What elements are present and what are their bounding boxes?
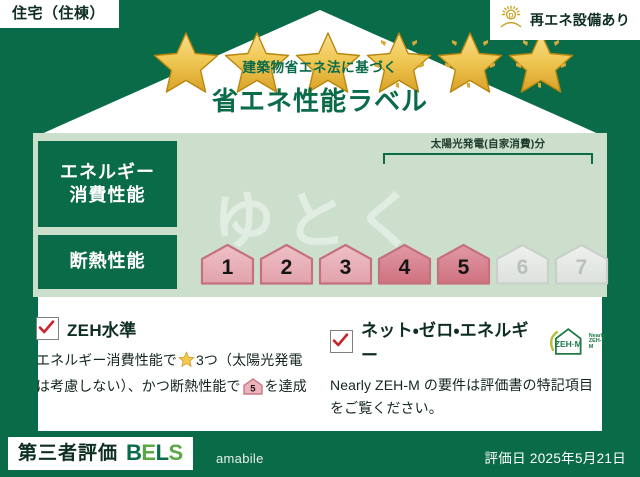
title-block: 建築物省エネ法に基づく 省エネ性能ラベル <box>0 56 640 118</box>
renewable-energy-badge: D 再エネ設備あり <box>490 0 640 40</box>
insulation-badge: 3 <box>318 243 373 285</box>
zeh-body-part1: エネルギー消費性能で <box>36 352 177 368</box>
insulation-badge-number: 7 <box>576 257 588 285</box>
insulation-badge: 6 <box>495 243 550 285</box>
building-type-tag: 住宅（住棟） <box>0 0 119 28</box>
insulation-badge: 2 <box>259 243 314 285</box>
bels-certification: 第三者評価 BELS <box>8 437 193 470</box>
insulation-badge-number: 4 <box>399 257 411 285</box>
energy-performance-label: 住宅（住棟） D 再エネ設備あり <box>0 0 640 477</box>
svg-text:D: D <box>509 12 514 19</box>
insulation-label-text: 断熱性能 <box>70 250 146 273</box>
bels-letter-b: B <box>126 440 141 465</box>
criteria-section: ZEH水準 エネルギー消費性能で3つ（太陽光発電は考慮しない）、かつ断熱性能で5… <box>36 316 606 419</box>
net-zero-energy-block: ネット・ゼロ・エネルギー ZEH·M Nearly ZEH-M Nearly Z… <box>330 316 606 419</box>
insulation-badge-inline: 5 <box>243 378 263 402</box>
insulation-badge-number: 5 <box>458 257 470 285</box>
zeh-standard-title: ZEH水準 <box>67 316 137 341</box>
net-zero-body: Nearly ZEH-M の要件は評価書の特記項目をご覧ください。 <box>330 374 606 419</box>
zeh-standard-header: ZEH水準 <box>36 316 312 341</box>
insulation-badge-number: 2 <box>281 257 293 285</box>
sun-icon: D <box>498 5 524 34</box>
zeh-standard-block: ZEH水準 エネルギー消費性能で3つ（太陽光発電は考慮しない）、かつ断熱性能で5… <box>36 316 312 419</box>
insulation-badge: 4 <box>377 243 432 285</box>
insulation-badge-number: 3 <box>340 257 352 285</box>
insulation-performance-label: 断熱性能 <box>38 235 177 289</box>
renewable-energy-label: 再エネ設備あり <box>530 13 630 27</box>
bels-letter-l: L <box>156 440 169 465</box>
energy-performance-label: エネルギー 消費性能 <box>38 141 177 227</box>
bels-logo: BELS <box>126 442 183 464</box>
solar-note-text: 太陽光発電(自家消費)分 <box>383 136 593 151</box>
bels-letter-s: S <box>169 440 183 465</box>
zeh-standard-body: エネルギー消費性能で3つ（太陽光発電は考慮しない）、かつ断熱性能で5を達成 <box>36 349 312 401</box>
star-icon <box>178 351 195 375</box>
bels-letter-e: E <box>141 440 155 465</box>
net-zero-checkbox[interactable] <box>330 330 353 353</box>
insulation-badge-number: 6 <box>517 257 529 285</box>
net-zero-header: ネット・ゼロ・エネルギー ZEH·M Nearly ZEH-M <box>330 316 606 366</box>
insulation-badge-row: 1234567 <box>200 243 609 285</box>
net-zero-title: ネット・ゼロ・エネルギー <box>361 316 533 366</box>
zeh-standard-checkbox[interactable] <box>36 317 59 340</box>
title-subtitle: 建築物省エネ法に基づく <box>0 56 640 76</box>
insulation-badge: 1 <box>200 243 255 285</box>
zeh-m-logo: ZEH·M Nearly ZEH-M <box>545 326 606 356</box>
zeh-logo-sub2: ZEH-M <box>589 339 606 351</box>
source-watermark: amabile <box>216 451 264 466</box>
zeh-body-part3: を達成 <box>265 378 307 394</box>
insulation-performance-row: 断熱性能 <box>33 235 177 289</box>
footer: 第三者評価 BELS amabile 評価日 2025年5月21日 <box>0 431 640 477</box>
energy-label-line1: エネルギー <box>60 161 155 184</box>
energy-performance-row: エネルギー 消費性能 <box>33 141 177 227</box>
energy-label-line2: 消費性能 <box>70 184 146 207</box>
zeh-m-logo-text: ZEH·M <box>555 339 582 349</box>
insulation-badge: 5 <box>436 243 491 285</box>
third-party-eval-label: 第三者評価 <box>18 444 118 463</box>
solar-bracket <box>383 153 593 164</box>
page-title: 省エネ性能ラベル <box>0 81 640 118</box>
insulation-badge: 7 <box>554 243 609 285</box>
solar-generation-note: 太陽光発電(自家消費)分 <box>383 136 593 164</box>
evaluation-date: 評価日 2025年5月21日 <box>484 447 626 467</box>
inline-badge-number: 5 <box>250 383 256 394</box>
insulation-badge-number: 1 <box>222 257 234 285</box>
